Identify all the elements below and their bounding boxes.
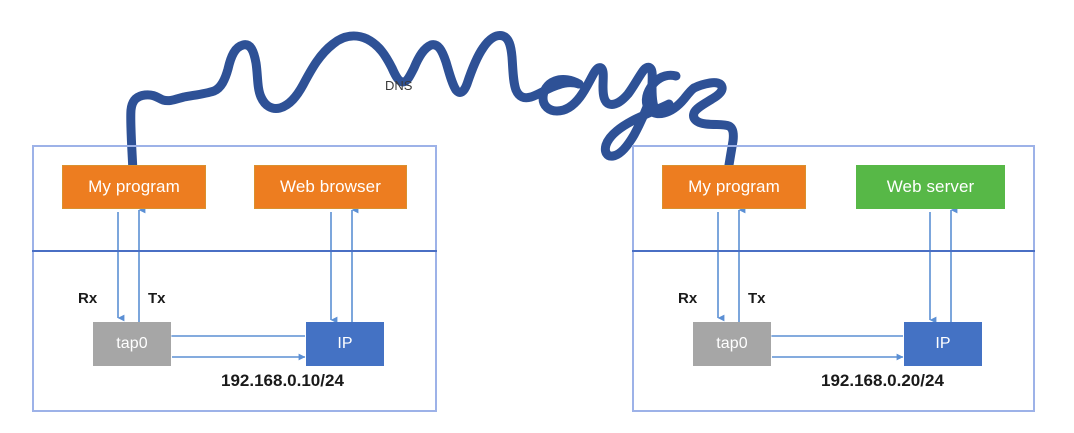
box-tap0-right[interactable]: tap0 bbox=[693, 322, 771, 366]
host-right-user-kernel-divider bbox=[632, 250, 1035, 252]
tx-label-left: Tx bbox=[148, 290, 166, 307]
box-web-server-right-label: Web server bbox=[887, 177, 975, 197]
box-my-program-left[interactable]: My program bbox=[62, 165, 206, 209]
box-tap0-left[interactable]: tap0 bbox=[93, 322, 171, 366]
box-my-program-right-label: My program bbox=[688, 177, 780, 197]
rx-label-right: Rx bbox=[678, 290, 697, 307]
host-left-user-kernel-divider bbox=[32, 250, 437, 252]
tx-label-right: Tx bbox=[748, 290, 766, 307]
box-my-program-left-label: My program bbox=[88, 177, 180, 197]
box-ip-right-label: IP bbox=[935, 335, 950, 353]
dns-label: DNS bbox=[385, 78, 412, 93]
address-label-right: 192.168.0.20/24 bbox=[821, 371, 944, 391]
diagram-canvas: DNS My program Web browser Rx Tx tap0 IP… bbox=[0, 0, 1074, 433]
box-ip-right[interactable]: IP bbox=[904, 322, 982, 366]
box-web-server-right[interactable]: Web server bbox=[856, 165, 1005, 209]
box-ip-left-label: IP bbox=[337, 335, 352, 353]
rx-label-left: Rx bbox=[78, 290, 97, 307]
box-web-browser-left-label: Web browser bbox=[280, 177, 381, 197]
box-my-program-right[interactable]: My program bbox=[662, 165, 806, 209]
box-ip-left[interactable]: IP bbox=[306, 322, 384, 366]
box-tap0-right-label: tap0 bbox=[716, 335, 748, 353]
box-tap0-left-label: tap0 bbox=[116, 335, 148, 353]
box-web-browser-left[interactable]: Web browser bbox=[254, 165, 407, 209]
address-label-left: 192.168.0.10/24 bbox=[221, 371, 344, 391]
